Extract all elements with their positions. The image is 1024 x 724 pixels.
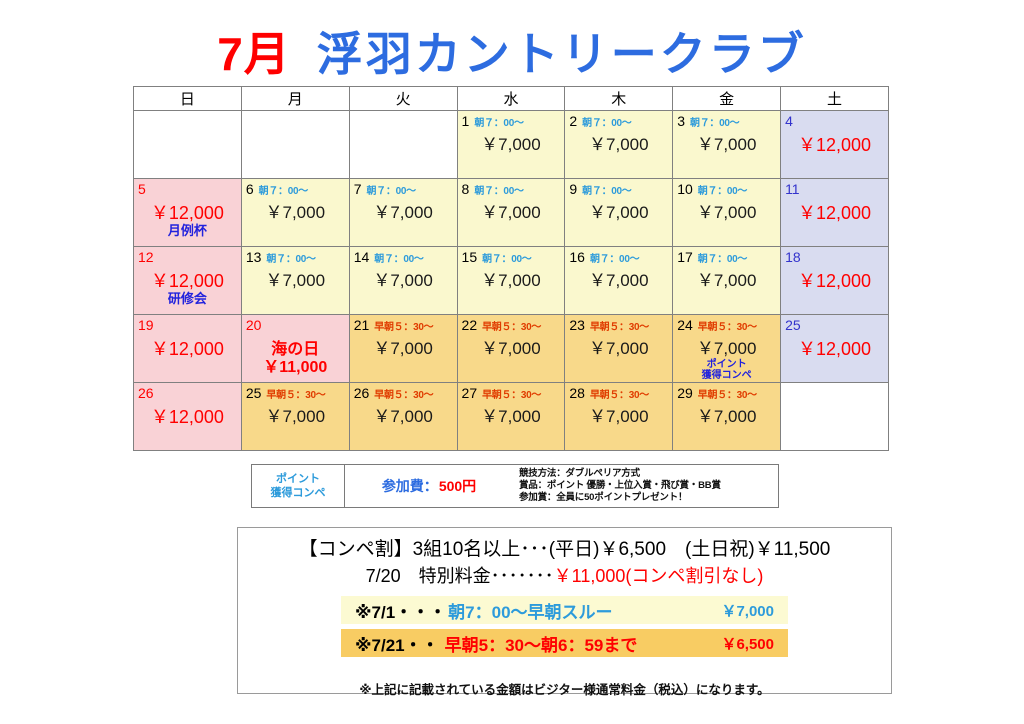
day-price: ￥7,000 [462, 271, 561, 291]
day-number: 1 [462, 114, 470, 129]
calendar-week-row: 5￥12,000月例杯6朝７：00〜￥7,0007朝７：00〜￥7,0008朝７… [134, 179, 889, 247]
calendar-day-cell[interactable]: 26￥12,000 [134, 383, 242, 451]
header-wednesday: 水 [457, 87, 565, 111]
day-number: 25 [246, 386, 262, 401]
day-start-time: 早朝５：30〜 [374, 320, 433, 335]
legend-rules: 競技方法：ダブルペリア方式 賞品：ポイント 優勝・上位入賞・飛び賞・BB賞 参加… [513, 465, 778, 507]
calendar-header-row: 日 月 火 水 木 金 土 [134, 87, 889, 111]
calendar-day-cell[interactable]: 24早朝５：30〜￥7,000ポイント獲得コンペ [673, 315, 781, 383]
legend-tag: ポイント 獲得コンペ [252, 465, 345, 507]
calendar-day-cell[interactable]: 9朝７：00〜￥7,000 [565, 179, 673, 247]
calendar-day-cell[interactable]: 19￥12,000 [134, 315, 242, 383]
day-number: 21 [354, 318, 370, 333]
calendar-day-cell[interactable]: 7朝７：00〜￥7,000 [349, 179, 457, 247]
day-start-time: 朝７：00〜 [482, 252, 531, 267]
highlight2-text: 早朝5：30〜朝6：59まで [445, 631, 638, 656]
title-month: 7月 [217, 28, 291, 80]
calendar-day-cell[interactable]: 27早朝５：30〜￥7,000 [457, 383, 565, 451]
calendar-day-cell[interactable]: 20海の日￥11,000 [241, 315, 349, 383]
header-monday: 月 [241, 87, 349, 111]
calendar-empty-cell [241, 111, 349, 179]
calendar-day-cell[interactable]: 25￥12,000 [781, 315, 889, 383]
day-number: 27 [462, 386, 478, 401]
calendar-body: 1朝７：00〜￥7,0002朝７：00〜￥7,0003朝７：00〜￥7,0004… [134, 111, 889, 451]
day-number: 9 [569, 182, 577, 197]
day-number: 23 [569, 318, 585, 333]
highlight2-label: ※7/21・・ [355, 631, 439, 656]
day-event-note: ポイント [677, 359, 776, 370]
calendar-table: 日 月 火 水 木 金 土 1朝７：00〜￥7,0002朝７：00〜￥7,000… [133, 86, 889, 451]
day-number: 13 [246, 250, 262, 265]
day-price: ￥7,000 [569, 407, 668, 427]
day-number: 20 [246, 318, 262, 333]
day-start-time: 早朝５：30〜 [374, 388, 433, 403]
day-start-time: 朝７：00〜 [474, 184, 523, 199]
calendar-day-cell[interactable]: 14朝７：00〜￥7,000 [349, 247, 457, 315]
day-price: ￥12,000 [785, 135, 884, 155]
calendar-day-cell[interactable]: 26早朝５：30〜￥7,000 [349, 383, 457, 451]
calendar-day-cell[interactable]: 12￥12,000研修会 [134, 247, 242, 315]
visitor-rate-footnote: ※上記に記載されている金額はビジター様通常料金（税込）になります。 [238, 679, 891, 698]
day-number: 5 [138, 182, 146, 197]
day-price: ￥7,000 [462, 339, 561, 359]
highlight-row-july-1: ※7/1・・・ 朝7：00〜早朝スルー ￥7,000 [341, 596, 788, 624]
day-start-time: 早朝５：30〜 [590, 320, 649, 335]
day-number: 25 [785, 318, 801, 333]
day-start-time: 早朝５：30〜 [590, 388, 649, 403]
legend-fee-label: 参加費： [382, 476, 438, 496]
calendar-day-cell[interactable]: 15朝７：00〜￥7,000 [457, 247, 565, 315]
day-start-time: 早朝５：30〜 [482, 320, 541, 335]
calendar-day-cell[interactable]: 22早朝５：30〜￥7,000 [457, 315, 565, 383]
day-price: ￥7,000 [462, 407, 561, 427]
calendar-empty-cell [349, 111, 457, 179]
calendar-day-cell[interactable]: 8朝７：00〜￥7,000 [457, 179, 565, 247]
highlight1-price: ￥7,000 [721, 600, 774, 621]
point-compe-legend-box: ポイント 獲得コンペ 参加費：500円 競技方法：ダブルペリア方式 賞品：ポイン… [251, 464, 779, 508]
day-number: 6 [246, 182, 254, 197]
day-price: ￥7,000 [246, 271, 345, 291]
day-event-note: 月例杯 [138, 223, 237, 238]
header-tuesday: 火 [349, 87, 457, 111]
legend-tag-line2: 獲得コンペ [271, 486, 326, 500]
calendar-day-cell[interactable]: 3朝７：00〜￥7,000 [673, 111, 781, 179]
day-start-time: 朝７：00〜 [366, 184, 415, 199]
day-number: 11 [785, 182, 800, 197]
day-number: 14 [354, 250, 370, 265]
legend-fee-amount: 500円 [439, 476, 476, 496]
day-number: 29 [677, 386, 693, 401]
calendar-day-cell[interactable]: 17朝７：00〜￥7,000 [673, 247, 781, 315]
day-number: 12 [138, 250, 154, 265]
highlight2-price: ￥6,500 [721, 633, 774, 654]
day-start-time: 早朝５：30〜 [266, 388, 325, 403]
header-saturday: 土 [781, 87, 889, 111]
day-start-time: 朝７：00〜 [698, 252, 747, 267]
day-start-time: 早朝５：30〜 [698, 320, 757, 335]
day-number: 10 [677, 182, 693, 197]
day-price: ￥7,000 [354, 203, 453, 223]
legend-rule-prizes: 賞品：ポイント 優勝・上位入賞・飛び賞・BB賞 [519, 480, 778, 492]
special-rate-line: 7/20 特別料金･･･････￥11,000(コンペ割引なし) [238, 563, 891, 589]
day-price: ￥12,000 [138, 339, 237, 359]
special-rate-amount: ￥11,000(コンペ割引なし) [554, 566, 764, 586]
highlight1-label: ※7/1・・・ [355, 598, 446, 623]
day-price: ￥7,000 [354, 271, 453, 291]
header-friday: 金 [673, 87, 781, 111]
calendar-day-cell[interactable]: 16朝７：00〜￥7,000 [565, 247, 673, 315]
calendar-day-cell[interactable]: 13朝７：00〜￥7,000 [241, 247, 349, 315]
day-start-time: 早朝５：30〜 [698, 388, 757, 403]
day-start-time: 朝７：00〜 [590, 252, 639, 267]
calendar-day-cell[interactable]: 25早朝５：30〜￥7,000 [241, 383, 349, 451]
day-price: ￥7,000 [569, 339, 668, 359]
day-event-note: 研修会 [138, 291, 237, 306]
day-price: ￥7,000 [462, 135, 561, 155]
day-number: 7 [354, 182, 362, 197]
day-number: 28 [569, 386, 585, 401]
day-event-note: 獲得コンペ [677, 370, 776, 381]
calendar-day-cell[interactable]: 6朝７：00〜￥7,000 [241, 179, 349, 247]
legend-rule-method: 競技方法：ダブルペリア方式 [519, 468, 778, 480]
calendar-week-row: 26￥12,00025早朝５：30〜￥7,00026早朝５：30〜￥7,0002… [134, 383, 889, 451]
calendar-empty-cell [781, 383, 889, 451]
calendar-day-cell[interactable]: 28早朝５：30〜￥7,000 [565, 383, 673, 451]
day-number: 8 [462, 182, 470, 197]
day-price: ￥7,000 [677, 135, 776, 155]
day-start-time: 朝７：00〜 [582, 184, 631, 199]
day-price: ￥12,000 [138, 407, 237, 427]
title-club-name: 浮羽カントリークラブ [317, 28, 807, 80]
calendar-week-row: 1朝７：00〜￥7,0002朝７：00〜￥7,0003朝７：00〜￥7,0004… [134, 111, 889, 179]
day-price: ￥12,000 [785, 203, 884, 223]
day-number: 18 [785, 250, 801, 265]
legend-entry-fee: 参加費：500円 [345, 465, 513, 507]
day-start-time: 朝７：00〜 [582, 116, 631, 131]
calendar-day-cell[interactable]: 1朝７：00〜￥7,000 [457, 111, 565, 179]
day-number: 17 [677, 250, 693, 265]
calendar-day-cell[interactable]: 4￥12,000 [781, 111, 889, 179]
calendar-day-cell[interactable]: 5￥12,000月例杯 [134, 179, 242, 247]
day-number: 26 [354, 386, 370, 401]
day-price: ￥12,000 [785, 271, 884, 291]
day-number: 16 [569, 250, 585, 265]
day-price: ￥7,000 [246, 203, 345, 223]
day-price: ￥7,000 [569, 203, 668, 223]
day-price: ￥7,000 [354, 339, 453, 359]
day-start-time: 朝７：00〜 [690, 116, 739, 131]
day-price: ￥7,000 [677, 271, 776, 291]
day-number: 26 [138, 386, 154, 401]
day-number: 19 [138, 318, 154, 333]
day-price: ￥7,000 [246, 407, 345, 427]
day-start-time: 早朝５：30〜 [482, 388, 541, 403]
compe-discount-line: 【コンペ割】3組10名以上･･･(平日)￥6,500 (土日祝)￥11,500 [238, 537, 891, 563]
calendar-day-cell[interactable]: 18￥12,000 [781, 247, 889, 315]
day-price: ￥7,000 [569, 135, 668, 155]
calendar-day-cell[interactable]: 11￥12,000 [781, 179, 889, 247]
day-price: ￥12,000 [138, 203, 237, 223]
calendar-empty-cell [134, 111, 242, 179]
header-sunday: 日 [134, 87, 242, 111]
page-title: 7月浮羽カントリークラブ [0, 18, 1024, 84]
day-price: ￥7,000 [462, 203, 561, 223]
day-number: 24 [677, 318, 693, 333]
day-start-time: 朝７：00〜 [474, 116, 523, 131]
day-start-time: 朝７：00〜 [266, 252, 315, 267]
legend-tag-line1: ポイント [276, 472, 320, 486]
day-start-time: 朝７：00〜 [259, 184, 308, 199]
day-price: ￥12,000 [138, 271, 237, 291]
header-thursday: 木 [565, 87, 673, 111]
special-rate-label: 7/20 特別料金･･･････ [366, 566, 554, 586]
day-start-time: 朝７：00〜 [374, 252, 423, 267]
day-number: 4 [785, 114, 793, 129]
day-number: 15 [462, 250, 478, 265]
day-price: ￥7,000 [569, 271, 668, 291]
calendar-day-cell[interactable]: 2朝７：00〜￥7,000 [565, 111, 673, 179]
calendar-day-cell[interactable]: 21早朝５：30〜￥7,000 [349, 315, 457, 383]
legend-rule-participation: 参加賞：全員に50ポイントプレゼント！ [519, 492, 778, 504]
day-number: 2 [569, 114, 577, 129]
day-price: ￥7,000 [677, 407, 776, 427]
day-number: 3 [677, 114, 685, 129]
highlight1-text: 朝7：00〜早朝スルー [448, 598, 612, 623]
day-price: ￥12,000 [785, 339, 884, 359]
day-price: ￥7,000 [677, 203, 776, 223]
day-number: 22 [462, 318, 478, 333]
pricing-info-box: 【コンペ割】3組10名以上･･･(平日)￥6,500 (土日祝)￥11,500 … [237, 527, 892, 694]
highlight-row-july-21: ※7/21・・ 早朝5：30〜朝6：59まで ￥6,500 [341, 629, 788, 657]
day-price: ￥7,000 [354, 407, 453, 427]
calendar-day-cell[interactable]: 29早朝５：30〜￥7,000 [673, 383, 781, 451]
holiday-name: 海の日 [246, 341, 345, 359]
calendar-week-row: 12￥12,000研修会13朝７：00〜￥7,00014朝７：00〜￥7,000… [134, 247, 889, 315]
calendar-week-row: 19￥12,00020海の日￥11,00021早朝５：30〜￥7,00022早朝… [134, 315, 889, 383]
calendar-day-cell[interactable]: 23早朝５：30〜￥7,000 [565, 315, 673, 383]
day-price: ￥7,000 [677, 339, 776, 359]
day-price: ￥11,000 [246, 359, 345, 377]
day-start-time: 朝７：00〜 [698, 184, 747, 199]
calendar-day-cell[interactable]: 10朝７：00〜￥7,000 [673, 179, 781, 247]
